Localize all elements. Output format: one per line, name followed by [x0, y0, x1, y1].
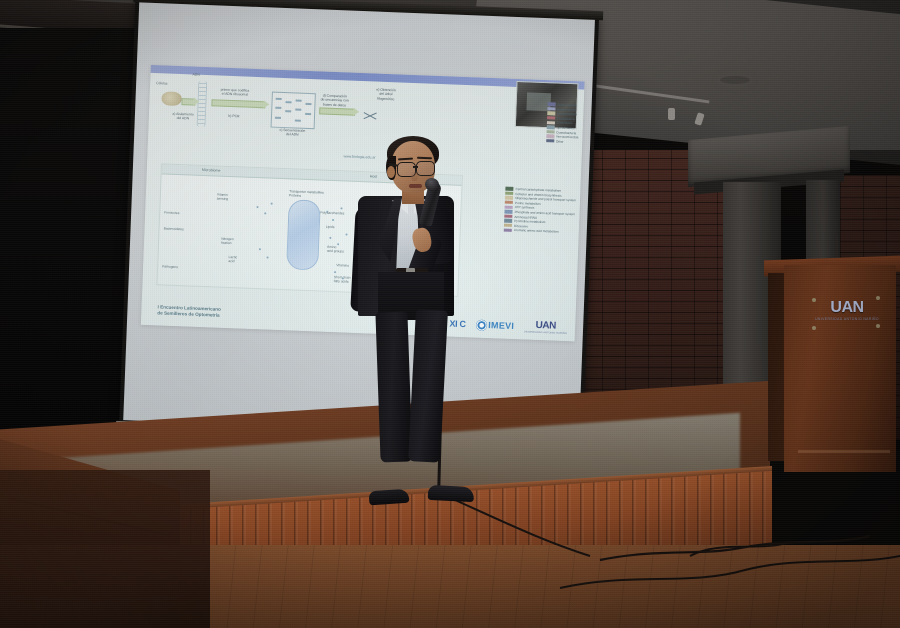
legend-swatch — [505, 210, 513, 214]
workflow-arrow — [211, 99, 265, 108]
diagram-label: Bacteroidetes — [164, 227, 184, 232]
workflow-step-a: a) Aislamiento del ADN — [163, 111, 203, 121]
speaker-leg-left — [375, 311, 412, 462]
diagram-col-host: Host — [370, 174, 378, 178]
diagram-label: Firmicutes — [164, 211, 179, 216]
legend-swatch — [546, 139, 554, 143]
diagram-label: Nitrogen fixation — [221, 237, 234, 245]
logo-uan-subtitle: UNIVERSIDAD ANTONIO NARIÑO — [524, 331, 567, 335]
legend-functions: Central carbohydrate metabolismCofactor … — [504, 187, 577, 236]
glasses-bridge — [413, 166, 418, 168]
plaque-screw — [876, 324, 880, 328]
legend-swatch — [505, 191, 513, 195]
cell-illustration — [161, 91, 182, 106]
imevi-mark-icon — [476, 319, 487, 330]
plaque-screw — [812, 298, 816, 302]
dark-wall-left — [0, 28, 136, 468]
legend-swatch — [547, 102, 555, 106]
legend-swatch — [546, 125, 554, 129]
workflow-dna-label: ADN — [192, 73, 199, 78]
legend-swatch — [504, 228, 512, 232]
legend-swatch — [504, 214, 512, 218]
workflow-step-b: b) PCR — [217, 113, 251, 119]
diagram-col-microbiome: Microbiome — [202, 168, 221, 173]
diagram-label: Vitamins — [336, 263, 349, 267]
workflow-arrow — [181, 98, 195, 106]
spot-light-icon — [668, 108, 675, 120]
speaker-ear — [387, 166, 395, 178]
diagram-label: Transporter metabolites Proteins — [289, 189, 324, 198]
workflow-primer-note: primer que codifica el ADN ribosomal — [212, 87, 258, 97]
floor-shadow-left — [0, 470, 210, 628]
podium-uan-plaque: UAN UNIVERSIDAD ANTONIO NARIÑO — [816, 300, 878, 322]
slide-logo-row: XI C IMEVI UAN UNIVERSIDAD ANTONIO NARIÑ… — [449, 317, 567, 335]
speaker-mouth — [409, 184, 422, 188]
slide-source-url: www.biologia.edu.ar — [343, 154, 375, 159]
speaker-shoe-left — [369, 489, 410, 506]
legend-swatch — [505, 205, 513, 209]
diagram-label: Pathogens — [162, 264, 178, 269]
speaker-shoe-right — [428, 485, 475, 502]
legend-swatch — [505, 187, 513, 191]
ceiling-light-recessed — [720, 76, 750, 84]
diagram-label: Vitamin sensing — [217, 193, 229, 201]
logo-imevi: IMEVI — [476, 319, 515, 331]
diagram-label: Polysaccharides — [320, 211, 344, 216]
speaker-nose — [411, 170, 418, 181]
diagram-label: Amino acid groups — [327, 245, 344, 254]
glasses-lens-right — [416, 161, 435, 176]
legend-swatch — [547, 116, 555, 120]
legend-swatch — [505, 201, 513, 205]
logo-imevi-text: IMEVI — [488, 320, 514, 331]
legend-label: Aromatic amino acid metabolism — [514, 228, 559, 234]
diagram-label: Lactic acid — [228, 255, 237, 263]
plaque-screw — [812, 326, 816, 330]
legend-swatch — [546, 135, 554, 139]
gel-electrophoresis-icon — [271, 92, 316, 130]
workflow-cells-label: Células — [156, 81, 167, 86]
logo-xi-congress: XI C — [449, 319, 466, 330]
legend-swatch — [547, 107, 555, 111]
workflow-step-c: c) Secuenciación del ADN — [264, 127, 320, 138]
legend-swatch — [504, 219, 512, 223]
legend-swatch — [547, 112, 555, 116]
podium-logo-uan-subtitle: UNIVERSIDAD ANTONIO NARIÑO — [815, 318, 879, 321]
logo-uan: UAN UNIVERSIDAD ANTONIO NARIÑO — [524, 320, 567, 335]
legend-swatch — [504, 224, 512, 228]
legend-phyla: ActinobacteriaBacteroidetesProteobacteri… — [546, 102, 580, 145]
event-footer-text: I Encuentro Latinoamericano de Semillero… — [157, 304, 221, 320]
legend-swatch — [547, 121, 555, 125]
workflow-step-d: d) Comparación de secuencias con bases d… — [315, 93, 353, 107]
legend-swatch — [505, 196, 513, 200]
photo-scene: Células ADN a) Aislamiento del ADN b) PC… — [0, 0, 900, 628]
diagram-label: Lipids — [326, 225, 335, 229]
legend-row: Other — [546, 139, 578, 144]
legend-swatch — [546, 130, 554, 134]
podium-logo-uan-text: UAN — [830, 300, 863, 316]
plaque-screw — [876, 296, 880, 300]
legend-label: Other — [556, 139, 564, 143]
podium-base-trim — [798, 450, 890, 453]
bacterium-illustration — [286, 199, 321, 270]
workflow-arrow — [319, 107, 355, 115]
workflow-step-e: e) Obtención del árbol filogenético — [364, 87, 408, 101]
